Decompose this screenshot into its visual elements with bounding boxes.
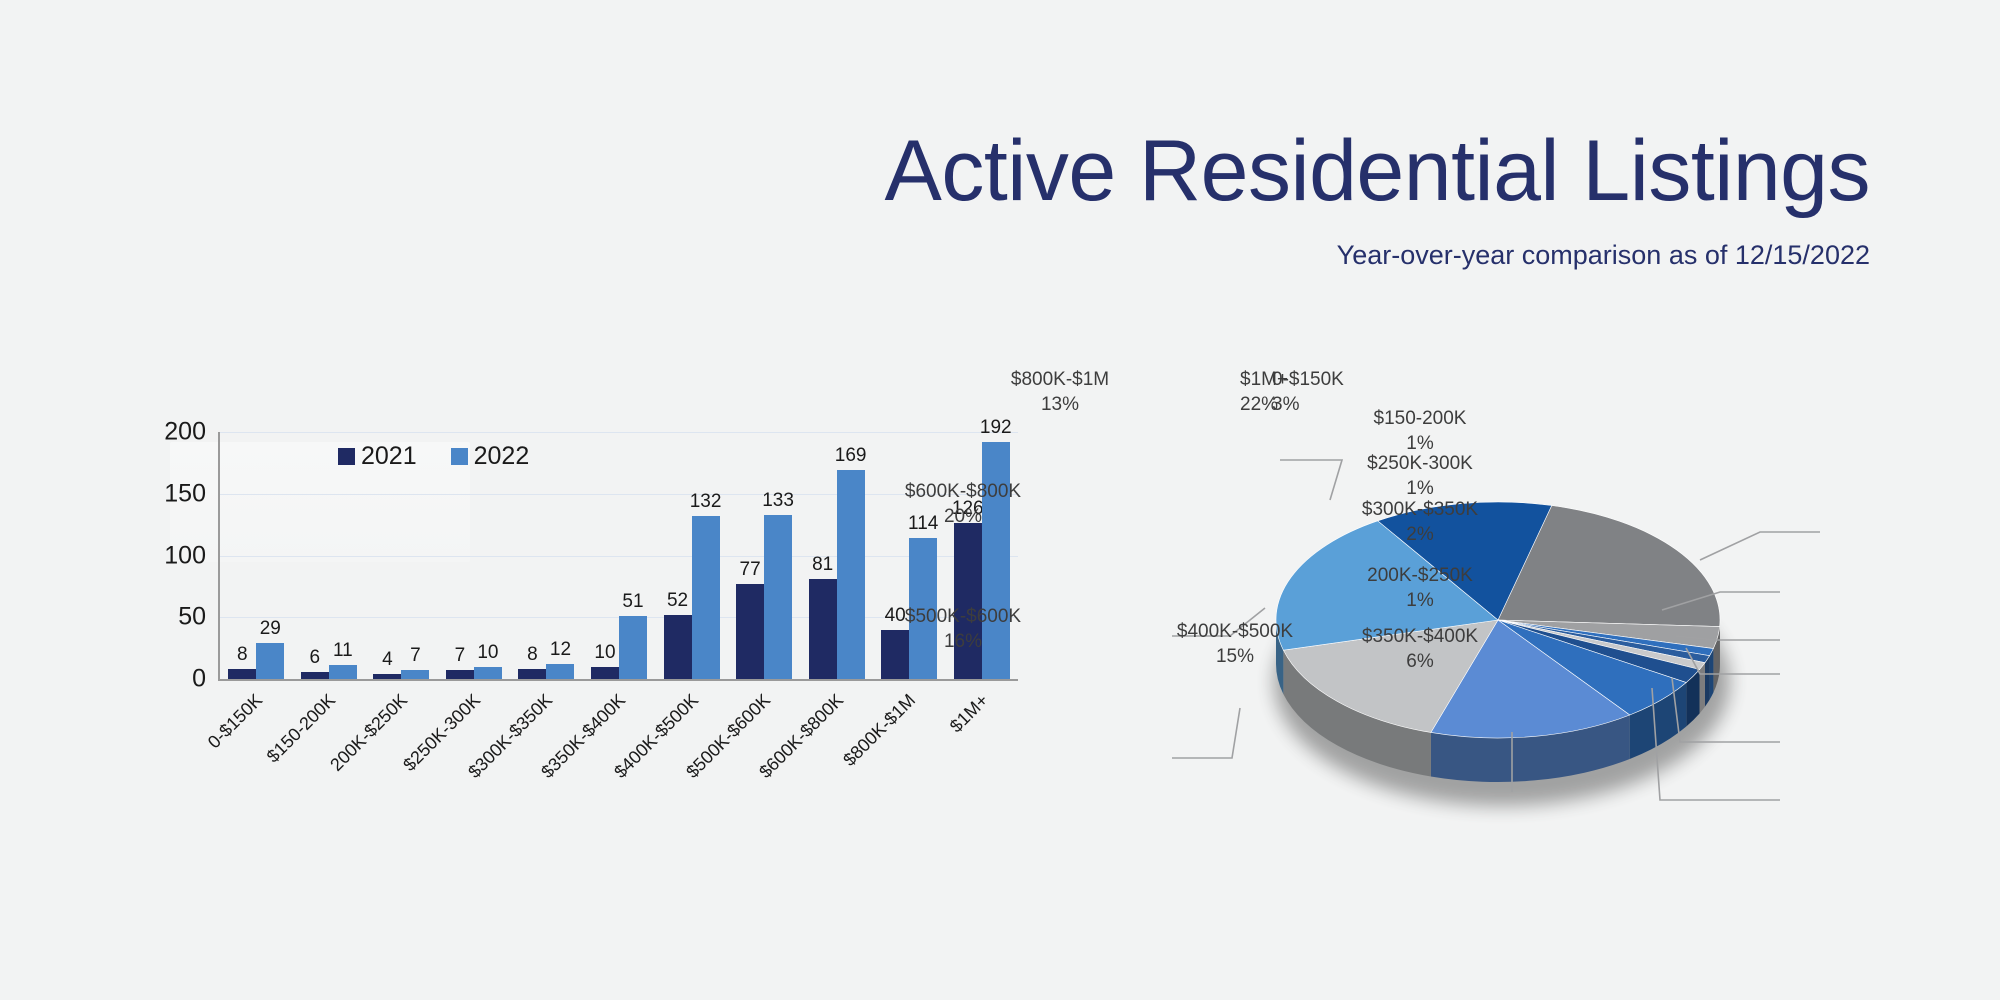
bar-rect: [228, 669, 256, 679]
bar-rect: [692, 516, 720, 679]
y-axis-labels: 050100150200: [136, 432, 206, 680]
bar-chart-plot-area: 050100150200 20212022 829611477108121051…: [148, 432, 1068, 732]
pie-label-350k-400k: $350K-$400K 6%: [1325, 625, 1515, 674]
bar-2022-0-$150K[interactable]: 29: [256, 432, 284, 679]
y-axis-tick-label: 150: [136, 479, 206, 508]
x-axis-label-cell: $1M+: [945, 684, 1018, 814]
pie-label-300k-350k: $300K-$350K 2%: [1325, 498, 1515, 547]
bar-2021-$150-200K[interactable]: 6: [301, 432, 329, 679]
bar-2022-$150-200K[interactable]: 11: [329, 432, 357, 679]
bar-2022-$300K-$350K[interactable]: 12: [546, 432, 574, 679]
bar-rect: [373, 674, 401, 679]
bar-value-label: 8: [237, 644, 248, 666]
pie-label-400k-500k: $400K-$500K 15%: [1130, 620, 1340, 669]
pie-leader-line: [1172, 708, 1240, 758]
bar-2022-200K-$250K[interactable]: 7: [401, 432, 429, 679]
pie-label-600k-800k: $600K-$800K 20%: [858, 480, 1068, 529]
x-axis-labels: 0-$150K$150-200K200K-$250K$250K-300K$300…: [220, 684, 1018, 814]
pie-chart: $800K-$1M 13% $600K-$800K 20% $500K-$600…: [1080, 440, 1960, 860]
header: Active Residential Listings Year-over-ye…: [0, 0, 1870, 271]
bar-value-label: 12: [550, 639, 571, 661]
bar-value-label: 192: [980, 417, 1012, 439]
bar-value-label: 29: [260, 618, 281, 640]
pie-label-200k-250k: 200K-$250K 1%: [1325, 564, 1515, 613]
pie-label-800k-1m: $800K-$1M 13%: [960, 368, 1160, 417]
bar-2022-$500K-$600K[interactable]: 133: [764, 432, 792, 679]
bar-2022-$250K-300K[interactable]: 10: [474, 432, 502, 679]
bar-2022-$350K-$400K[interactable]: 51: [619, 432, 647, 679]
y-axis-tick-label: 0: [136, 665, 206, 694]
bar-value-label: 132: [690, 491, 722, 513]
pie-label-150-200k: $150-200K 1%: [1325, 407, 1515, 456]
bar-value-label: 7: [410, 645, 421, 667]
bar-rect: [301, 672, 329, 679]
pie-label-500k-600k: $500K-$600K 16%: [858, 605, 1068, 654]
bar-value-label: 52: [667, 590, 688, 612]
bar-value-label: 81: [812, 554, 833, 576]
y-axis-tick-label: 200: [136, 418, 206, 447]
bar-value-label: 11: [333, 640, 353, 662]
pie-leader-line: [1700, 532, 1820, 560]
pie-slice-side-200K-$250K: [1705, 656, 1710, 707]
bar-rect: [591, 667, 619, 679]
bar-2021-0-$150K[interactable]: 8: [228, 432, 256, 679]
x-axis-tick-text: 0-$150K: [204, 690, 267, 753]
bar-value-label: 169: [835, 445, 867, 467]
bar-group: 829: [220, 432, 293, 679]
page-subtitle: Year-over-year comparison as of 12/15/20…: [0, 214, 1870, 271]
pie-label-250k-300k: $250K-300K 1%: [1325, 452, 1515, 501]
x-axis-label-cell: $800K-$1M: [873, 684, 946, 814]
bar-value-label: 10: [477, 642, 498, 664]
x-axis-tick-text: $1M+: [946, 690, 993, 737]
bar-value-label: 133: [762, 490, 794, 512]
bar-value-label: 77: [740, 559, 761, 581]
y-axis-tick-label: 50: [136, 603, 206, 632]
bar-rect: [518, 669, 546, 679]
bar-2022-$400K-$500K[interactable]: 132: [692, 432, 720, 679]
bar-rect: [764, 515, 792, 679]
bar-rect: [446, 670, 474, 679]
page-title: Active Residential Listings: [0, 0, 1870, 214]
bar-group: 611: [293, 432, 366, 679]
bar-value-label: 51: [622, 591, 643, 613]
pie-slice-side-$250K-300K: [1700, 663, 1705, 714]
y-axis-tick-label: 100: [136, 541, 206, 570]
